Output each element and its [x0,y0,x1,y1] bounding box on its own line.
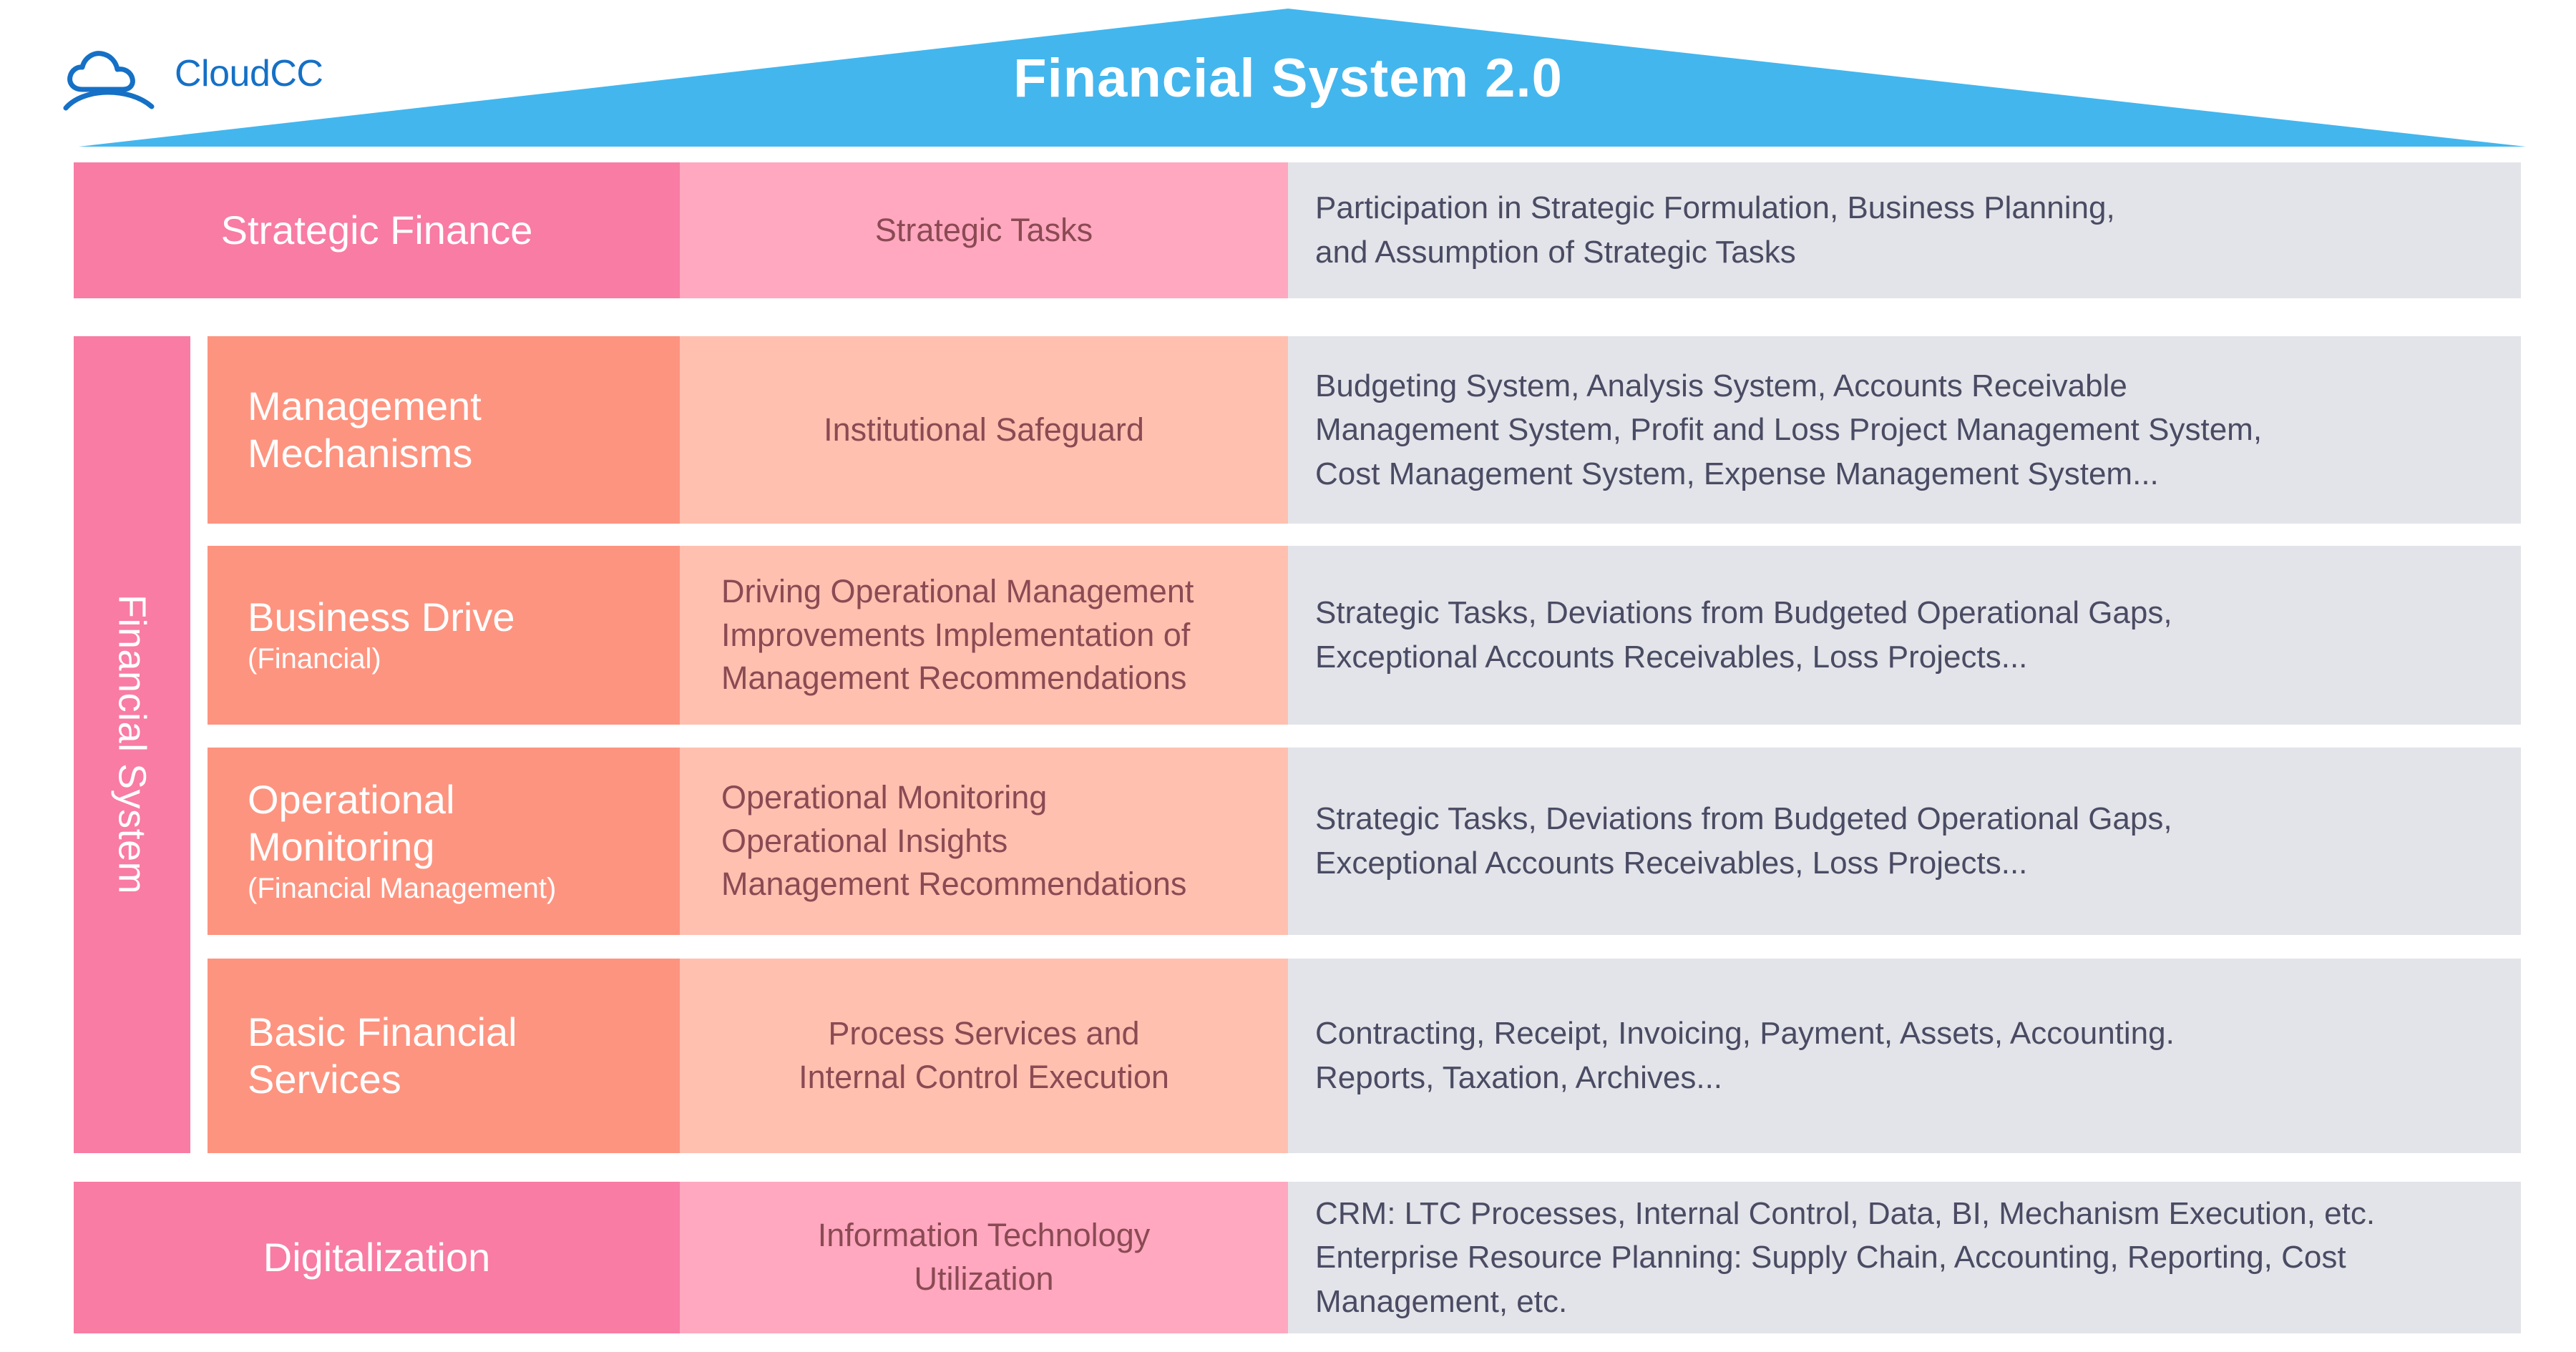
row-function: Operational Monitoring Operational Insig… [680,748,1288,935]
row-function-line: Management Recommendations [721,863,1186,906]
table-row: Business Drive (Financial) Driving Opera… [208,546,2521,725]
row-function-line: Management Recommendations [721,657,1186,700]
row-title-text: Basic Financial [248,1009,517,1056]
row-function-line: Improvements Implementation of [721,614,1190,657]
row-description-line: Reports, Taxation, Archives... [1315,1056,1722,1100]
row-title-text: Business Drive [248,594,514,641]
row-function-line: Utilization [914,1258,1053,1301]
row-description: Budgeting System, Analysis System, Accou… [1288,336,2521,524]
row-title: Digitalization [74,1182,680,1333]
row-description-line: Management System, Profit and Loss Proje… [1315,408,2262,452]
row-title-text-2: Monitoring [248,823,434,871]
row-function: Strategic Tasks [680,162,1288,298]
row-description-line: CRM: LTC Processes, Internal Control, Da… [1315,1192,2375,1236]
table-row: Operational Monitoring (Financial Manage… [208,748,2521,935]
row-function: Institutional Safeguard [680,336,1288,524]
row-description-line: Strategic Tasks, Deviations from Budgete… [1315,797,2172,841]
row-function-line: Internal Control Execution [799,1056,1169,1099]
financial-system-matrix: Financial System Strategic Finance Strat… [0,154,2576,1352]
row-title-text: Digitalization [263,1234,491,1281]
page-title: Financial System 2.0 [0,52,2576,106]
row-title-text: Strategic Finance [221,207,533,254]
row-description-line: and Assumption of Strategic Tasks [1315,230,1796,275]
row-title: Strategic Finance [74,162,680,298]
table-row: Strategic Finance Strategic Tasks Partic… [74,162,2521,298]
row-title-text-2: Services [248,1056,401,1103]
row-title: Business Drive (Financial) [208,546,680,725]
row-title-subtitle: (Financial) [248,641,381,677]
row-title-text: Operational [248,776,455,823]
row-description-line: Management, etc. [1315,1280,1567,1324]
row-description-line: Budgeting System, Analysis System, Accou… [1315,364,2127,408]
row-function-line: Operational Monitoring [721,776,1047,820]
row-function-line: Strategic Tasks [875,209,1093,253]
table-row: Basic Financial Services Process Service… [208,959,2521,1153]
row-title-subtitle: (Financial Management) [248,871,556,906]
row-function-line: Operational Insights [721,820,1008,863]
row-description-line: Participation in Strategic Formulation, … [1315,186,2115,230]
row-title: Basic Financial Services [208,959,680,1153]
row-function-line: Process Services and [828,1012,1139,1056]
row-description: Strategic Tasks, Deviations from Budgete… [1288,748,2521,935]
row-description: Strategic Tasks, Deviations from Budgete… [1288,546,2521,725]
row-description: Participation in Strategic Formulation, … [1288,162,2521,298]
row-function: Process Services and Internal Control Ex… [680,959,1288,1153]
row-function-line: Driving Operational Management [721,570,1194,614]
row-function: Driving Operational Management Improveme… [680,546,1288,725]
row-description-line: Enterprise Resource Planning: Supply Cha… [1315,1235,2346,1280]
row-title-text: Management [248,383,482,430]
row-function-line: Information Technology [818,1214,1150,1258]
table-row: Digitalization Information Technology Ut… [74,1182,2521,1333]
page-header: CloudCC Financial System 2.0 [0,0,2576,154]
row-description-line: Exceptional Accounts Receivables, Loss P… [1315,841,2027,886]
financial-system-rail-label: Financial System [113,594,152,894]
row-description-line: Contracting, Receipt, Invoicing, Payment… [1315,1011,2175,1056]
row-description-line: Strategic Tasks, Deviations from Budgete… [1315,591,2172,635]
row-description: Contracting, Receipt, Invoicing, Payment… [1288,959,2521,1153]
row-title-text-2: Mechanisms [248,430,472,477]
row-description-line: Exceptional Accounts Receivables, Loss P… [1315,635,2027,680]
row-function-line: Institutional Safeguard [824,408,1144,452]
row-title: Operational Monitoring (Financial Manage… [208,748,680,935]
financial-system-rail: Financial System [74,336,190,1153]
row-title: Management Mechanisms [208,336,680,524]
row-description-line: Cost Management System, Expense Manageme… [1315,452,2159,496]
table-row: Management Mechanisms Institutional Safe… [208,336,2521,524]
row-function: Information Technology Utilization [680,1182,1288,1333]
row-description: CRM: LTC Processes, Internal Control, Da… [1288,1182,2521,1333]
